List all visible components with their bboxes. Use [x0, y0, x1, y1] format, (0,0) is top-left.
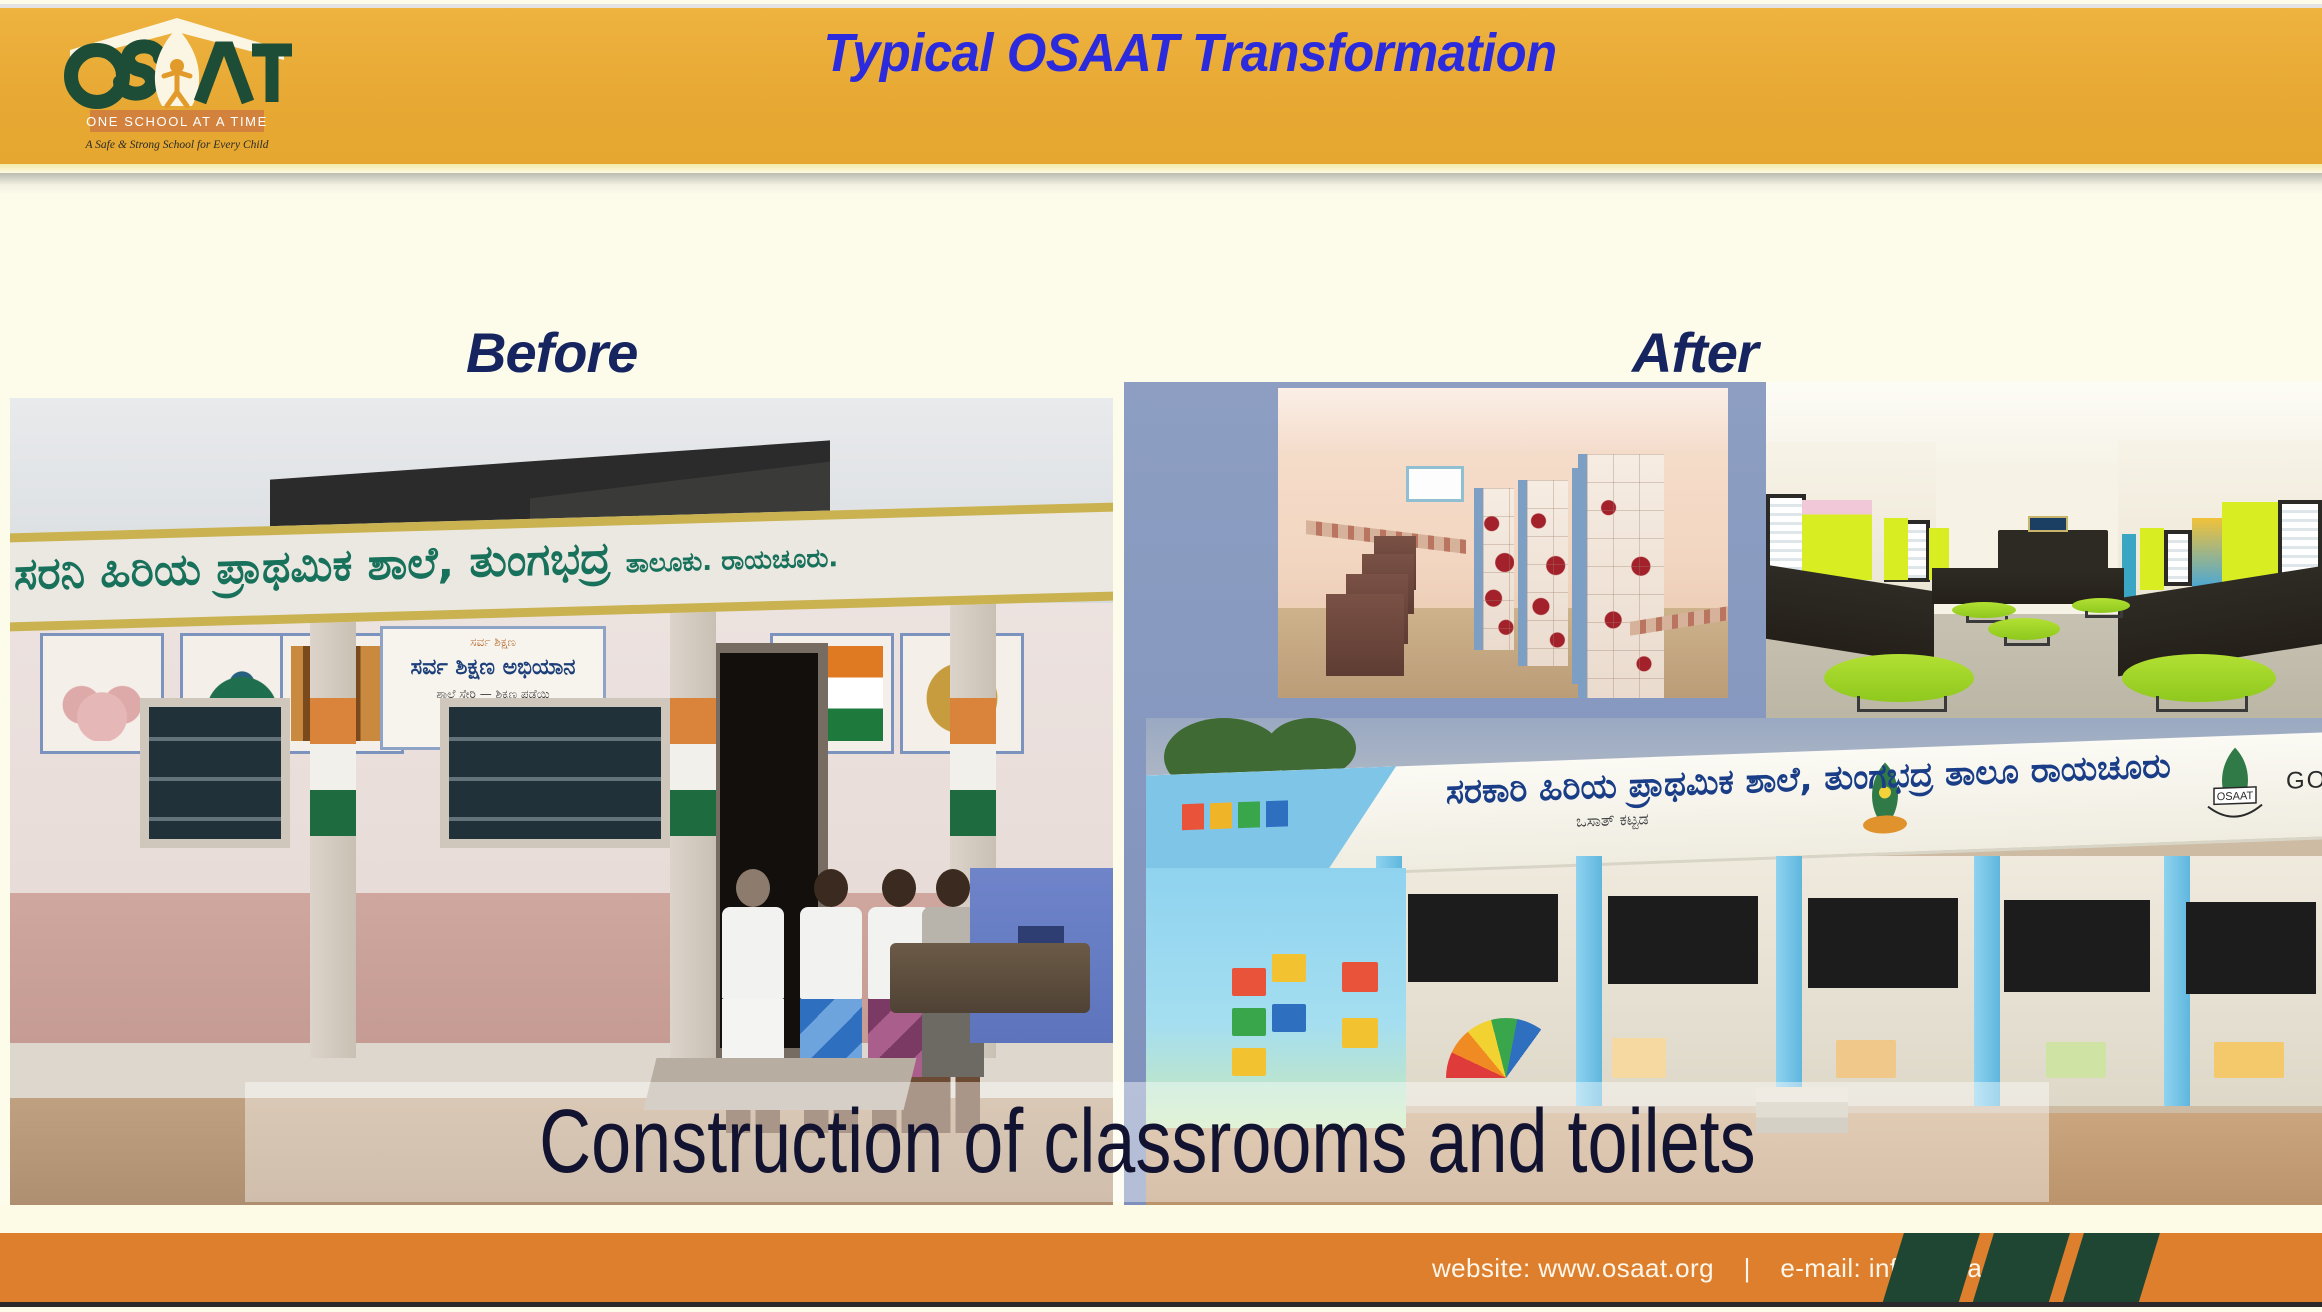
mural-block-2 — [1272, 954, 1306, 982]
classroom-window-5 — [2186, 902, 2316, 994]
footer-website[interactable]: website: www.osaat.org — [1432, 1253, 1714, 1283]
chart-right-1 — [2140, 528, 2164, 590]
mural-figures-4 — [2214, 1042, 2284, 1078]
lotus-illustration — [51, 646, 153, 741]
window-middle — [440, 698, 670, 848]
toilet-stall-near — [1578, 454, 1664, 698]
signboard-english: GOVERNMENT HIGHER PRIMARY SCHOOL, THUNGA — [2286, 742, 2322, 795]
table-far-right — [2072, 598, 2130, 613]
toilet-window — [1406, 466, 1464, 502]
mural-block-6 — [1342, 962, 1378, 992]
classroom-photo — [1766, 382, 2322, 742]
signboard-kannada-small: ಒಸಾತ್ ಕಟ್ಟಡ — [1576, 809, 1649, 832]
veranda-column-4 — [1974, 856, 2000, 1106]
mural-block-4 — [1272, 1004, 1306, 1032]
osaat-logo: ONE SCHOOL AT A TIME A Safe & Strong Sch… — [52, 14, 302, 159]
window-right-1 — [2164, 530, 2192, 586]
banner-line-1: ಸರ್ವ ಶಿಕ್ಷಣ — [383, 635, 603, 650]
cistern-4 — [1326, 594, 1404, 676]
banner-line-2: ಸರ್ವ ಶಿಕ್ಷಣ ಅಭಿಯಾನ — [383, 655, 603, 680]
table-far-left — [1952, 602, 2016, 618]
chart-left-1 — [1802, 500, 1872, 580]
kannada-school-name: ಸರನಿ ಹಿರಿಯ ಪ್ರಾಥಮಿಕ ಶಾಲೆ, ತುಂಗಭದ್ರ — [14, 533, 611, 601]
chart-right-2 — [2192, 518, 2222, 588]
footer-separator: | — [1722, 1253, 1773, 1284]
wall-clock — [2028, 516, 2068, 532]
footer-stripes — [1882, 1233, 2202, 1307]
veranda-pillar-1 — [310, 598, 356, 1058]
mural-figures-3 — [2046, 1042, 2106, 1078]
mural-figures-2 — [1836, 1040, 1896, 1078]
mural-block-7 — [1342, 1018, 1378, 1048]
rubble-pile — [890, 943, 1090, 1013]
table-near-right — [2122, 654, 2276, 702]
mural-block-5 — [1232, 1048, 1266, 1076]
slide-footer: website: www.osaat.org | e-mail: info@os… — [0, 1233, 2322, 1307]
toilet-block-photo — [1278, 388, 1728, 698]
after-label: After — [1632, 320, 1758, 385]
mural-block-3 — [1232, 1008, 1266, 1036]
classroom-window-3 — [1808, 898, 1958, 988]
table-near-left — [1824, 654, 1974, 702]
toilet-stall-far — [1474, 488, 1514, 650]
kannada-school-location: ತಾಲೂಕು. ರಾಯಚೂರು. — [626, 543, 838, 579]
veranda-column-3 — [1776, 856, 1802, 1106]
svg-text:A Safe & Strong School for Eve: A Safe & Strong School for Every Child — [84, 139, 268, 151]
header-underline — [0, 164, 2322, 173]
footer-stripe-2 — [1968, 1233, 2072, 1307]
veranda-pillar-2 — [670, 598, 716, 1058]
mural-block-1 — [1232, 968, 1266, 996]
table-middle — [1988, 618, 2060, 640]
toilet-stall-3 — [1518, 480, 1568, 666]
header-shadow — [0, 173, 2322, 195]
presentation-slide: ONE SCHOOL AT A TIME A Safe & Strong Sch… — [0, 0, 2322, 1312]
osaat-logo-small-right: OSAAT — [2196, 742, 2274, 829]
footer-stripe-1 — [1878, 1233, 1982, 1307]
caption-overlay: Construction of classrooms and toilets — [245, 1082, 2049, 1202]
caption-text: Construction of classrooms and toilets — [539, 1097, 1756, 1187]
signboard-blue-accent — [1146, 766, 1396, 879]
classroom-window-2 — [1608, 896, 1758, 984]
classroom-window-4 — [2004, 900, 2150, 992]
window-left — [140, 698, 290, 848]
page-title: Typical OSAAT Transformation — [635, 22, 1744, 84]
svg-text:OSAAT: OSAAT — [2217, 790, 2254, 803]
classroom-door — [2122, 534, 2136, 600]
chart-left-2 — [1884, 518, 1908, 580]
footer-stripe-3 — [2058, 1233, 2162, 1307]
before-label: Before — [466, 320, 637, 385]
mural-figures-1 — [1612, 1038, 1666, 1078]
svg-text:ONE SCHOOL AT A TIME: ONE SCHOOL AT A TIME — [86, 114, 268, 129]
veranda-column-2 — [1576, 856, 1602, 1106]
footer-spacer — [0, 1205, 2322, 1233]
classroom-window-1 — [1408, 894, 1558, 982]
toilet-ceiling — [1278, 388, 1728, 450]
